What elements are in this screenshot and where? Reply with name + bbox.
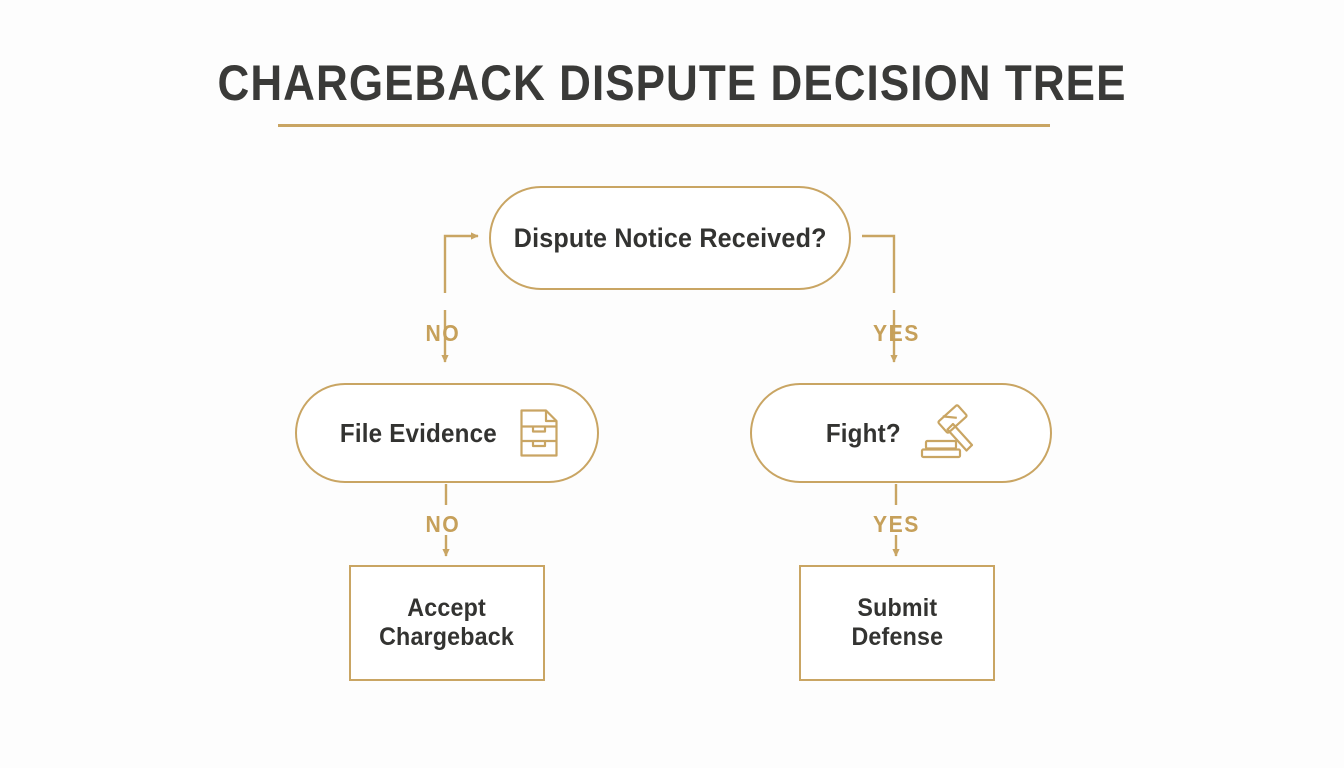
edge-label-root-yes: YES: [873, 320, 920, 347]
node-label-dispute-notice-received: Dispute Notice Received?: [514, 223, 827, 254]
node-accept-chargeback[interactable]: Accept Chargeback: [349, 565, 545, 681]
page-title: CHARGEBACK DISPUTE DECISION TREE: [81, 56, 1264, 111]
title-underline-rule: [278, 124, 1050, 127]
node-dispute-notice-received[interactable]: Dispute Notice Received?: [489, 186, 851, 290]
decision-tree-canvas: CHARGEBACK DISPUTE DECISION TREE: [0, 0, 1344, 768]
node-label-accept-chargeback: Accept Chargeback: [380, 594, 515, 653]
edge-label-root-no: NO: [426, 320, 461, 347]
edge-label-file-evidence-no: NO: [426, 511, 461, 538]
node-submit-defense[interactable]: Submit Defense: [799, 565, 995, 681]
node-file-evidence[interactable]: File Evidence: [295, 383, 599, 483]
file-drawer-icon: [518, 408, 560, 458]
node-label-fight: Fight?: [826, 418, 901, 449]
page-title-block: CHARGEBACK DISPUTE DECISION TREE: [0, 56, 1344, 111]
node-label-file-evidence: File Evidence: [340, 418, 497, 449]
gavel-icon: [917, 404, 979, 462]
connector-layer: [0, 0, 1344, 768]
node-label-submit-defense: Submit Defense: [851, 594, 943, 653]
node-fight[interactable]: Fight?: [750, 383, 1052, 483]
edge-label-fight-yes: YES: [873, 511, 920, 538]
